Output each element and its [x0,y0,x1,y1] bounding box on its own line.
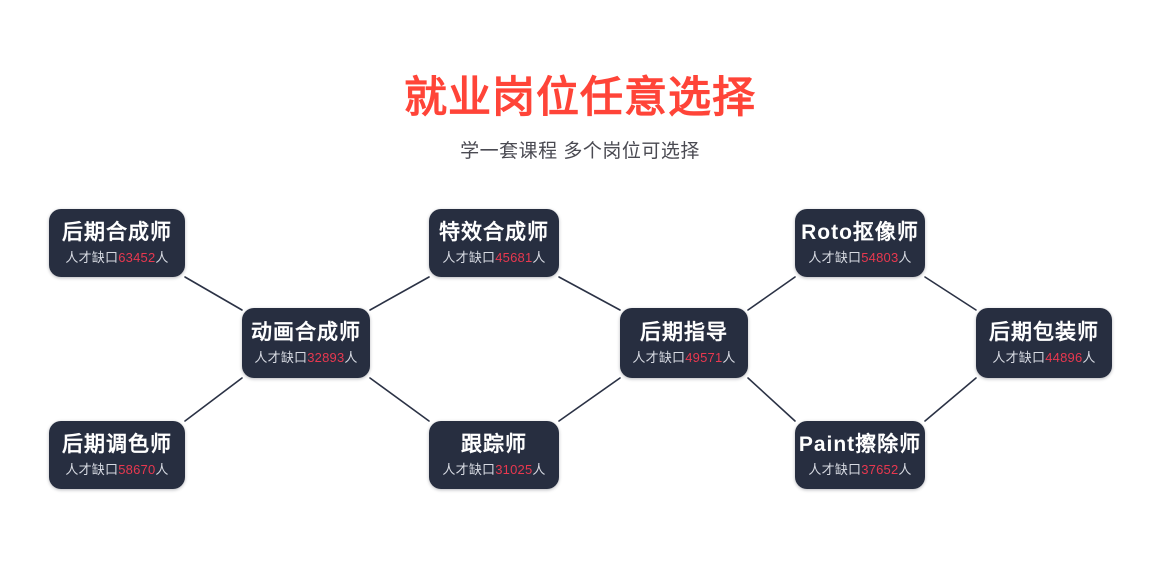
talent-gap-suffix: 人 [532,250,545,265]
job-node-paint-artist[interactable]: Paint擦除师人才缺口37652人 [795,421,925,489]
talent-gap-count: 45681 [495,250,532,265]
talent-gap-prefix: 人才缺口 [442,462,495,477]
talent-gap-suffix: 人 [155,250,168,265]
talent-gap-prefix: 人才缺口 [632,350,685,365]
job-node-post-supervisor[interactable]: 后期指导人才缺口49571人 [620,308,748,378]
talent-gap-suffix: 人 [1082,350,1095,365]
talent-gap-label: 人才缺口37652人 [808,461,911,479]
job-node-title: 后期指导 [640,320,728,346]
job-node-title: 动画合成师 [251,320,361,346]
talent-gap-prefix: 人才缺口 [808,462,861,477]
talent-gap-suffix: 人 [532,462,545,477]
talent-gap-count: 37652 [861,462,898,477]
job-node-diagram: 后期合成师人才缺口63452人动画合成师人才缺口32893人后期调色师人才缺口5… [0,0,1160,580]
talent-gap-label: 人才缺口31025人 [442,461,545,479]
job-node-title: Roto抠像师 [801,220,919,246]
talent-gap-label: 人才缺口44896人 [992,349,1095,367]
job-node-post-compositor[interactable]: 后期合成师人才缺口63452人 [49,209,185,277]
talent-gap-count: 32893 [307,350,344,365]
talent-gap-prefix: 人才缺口 [65,462,118,477]
talent-gap-label: 人才缺口32893人 [254,349,357,367]
job-node-title: 跟踪师 [461,432,527,458]
talent-gap-prefix: 人才缺口 [254,350,307,365]
talent-gap-prefix: 人才缺口 [808,250,861,265]
talent-gap-suffix: 人 [155,462,168,477]
talent-gap-suffix: 人 [898,462,911,477]
job-node-title: Paint擦除师 [799,432,921,458]
job-node-roto-artist[interactable]: Roto抠像师人才缺口54803人 [795,209,925,277]
job-node-title: 后期包装师 [989,320,1099,346]
talent-gap-suffix: 人 [722,350,735,365]
talent-gap-label: 人才缺口54803人 [808,249,911,267]
job-node-post-colorist[interactable]: 后期调色师人才缺口58670人 [49,421,185,489]
job-node-post-packager[interactable]: 后期包装师人才缺口44896人 [976,308,1112,378]
job-node-vfx-compositor[interactable]: 特效合成师人才缺口45681人 [429,209,559,277]
talent-gap-count: 54803 [861,250,898,265]
talent-gap-suffix: 人 [898,250,911,265]
talent-gap-prefix: 人才缺口 [65,250,118,265]
talent-gap-count: 63452 [118,250,155,265]
talent-gap-label: 人才缺口49571人 [632,349,735,367]
talent-gap-count: 31025 [495,462,532,477]
job-node-title: 后期调色师 [62,432,172,458]
talent-gap-label: 人才缺口63452人 [65,249,168,267]
talent-gap-prefix: 人才缺口 [442,250,495,265]
talent-gap-count: 58670 [118,462,155,477]
talent-gap-label: 人才缺口58670人 [65,461,168,479]
talent-gap-label: 人才缺口45681人 [442,249,545,267]
job-node-title: 后期合成师 [62,220,172,246]
job-node-tracking-artist[interactable]: 跟踪师人才缺口31025人 [429,421,559,489]
talent-gap-prefix: 人才缺口 [992,350,1045,365]
talent-gap-suffix: 人 [344,350,357,365]
talent-gap-count: 49571 [685,350,722,365]
job-node-animation-compositor[interactable]: 动画合成师人才缺口32893人 [242,308,370,378]
talent-gap-count: 44896 [1045,350,1082,365]
job-node-title: 特效合成师 [439,220,549,246]
